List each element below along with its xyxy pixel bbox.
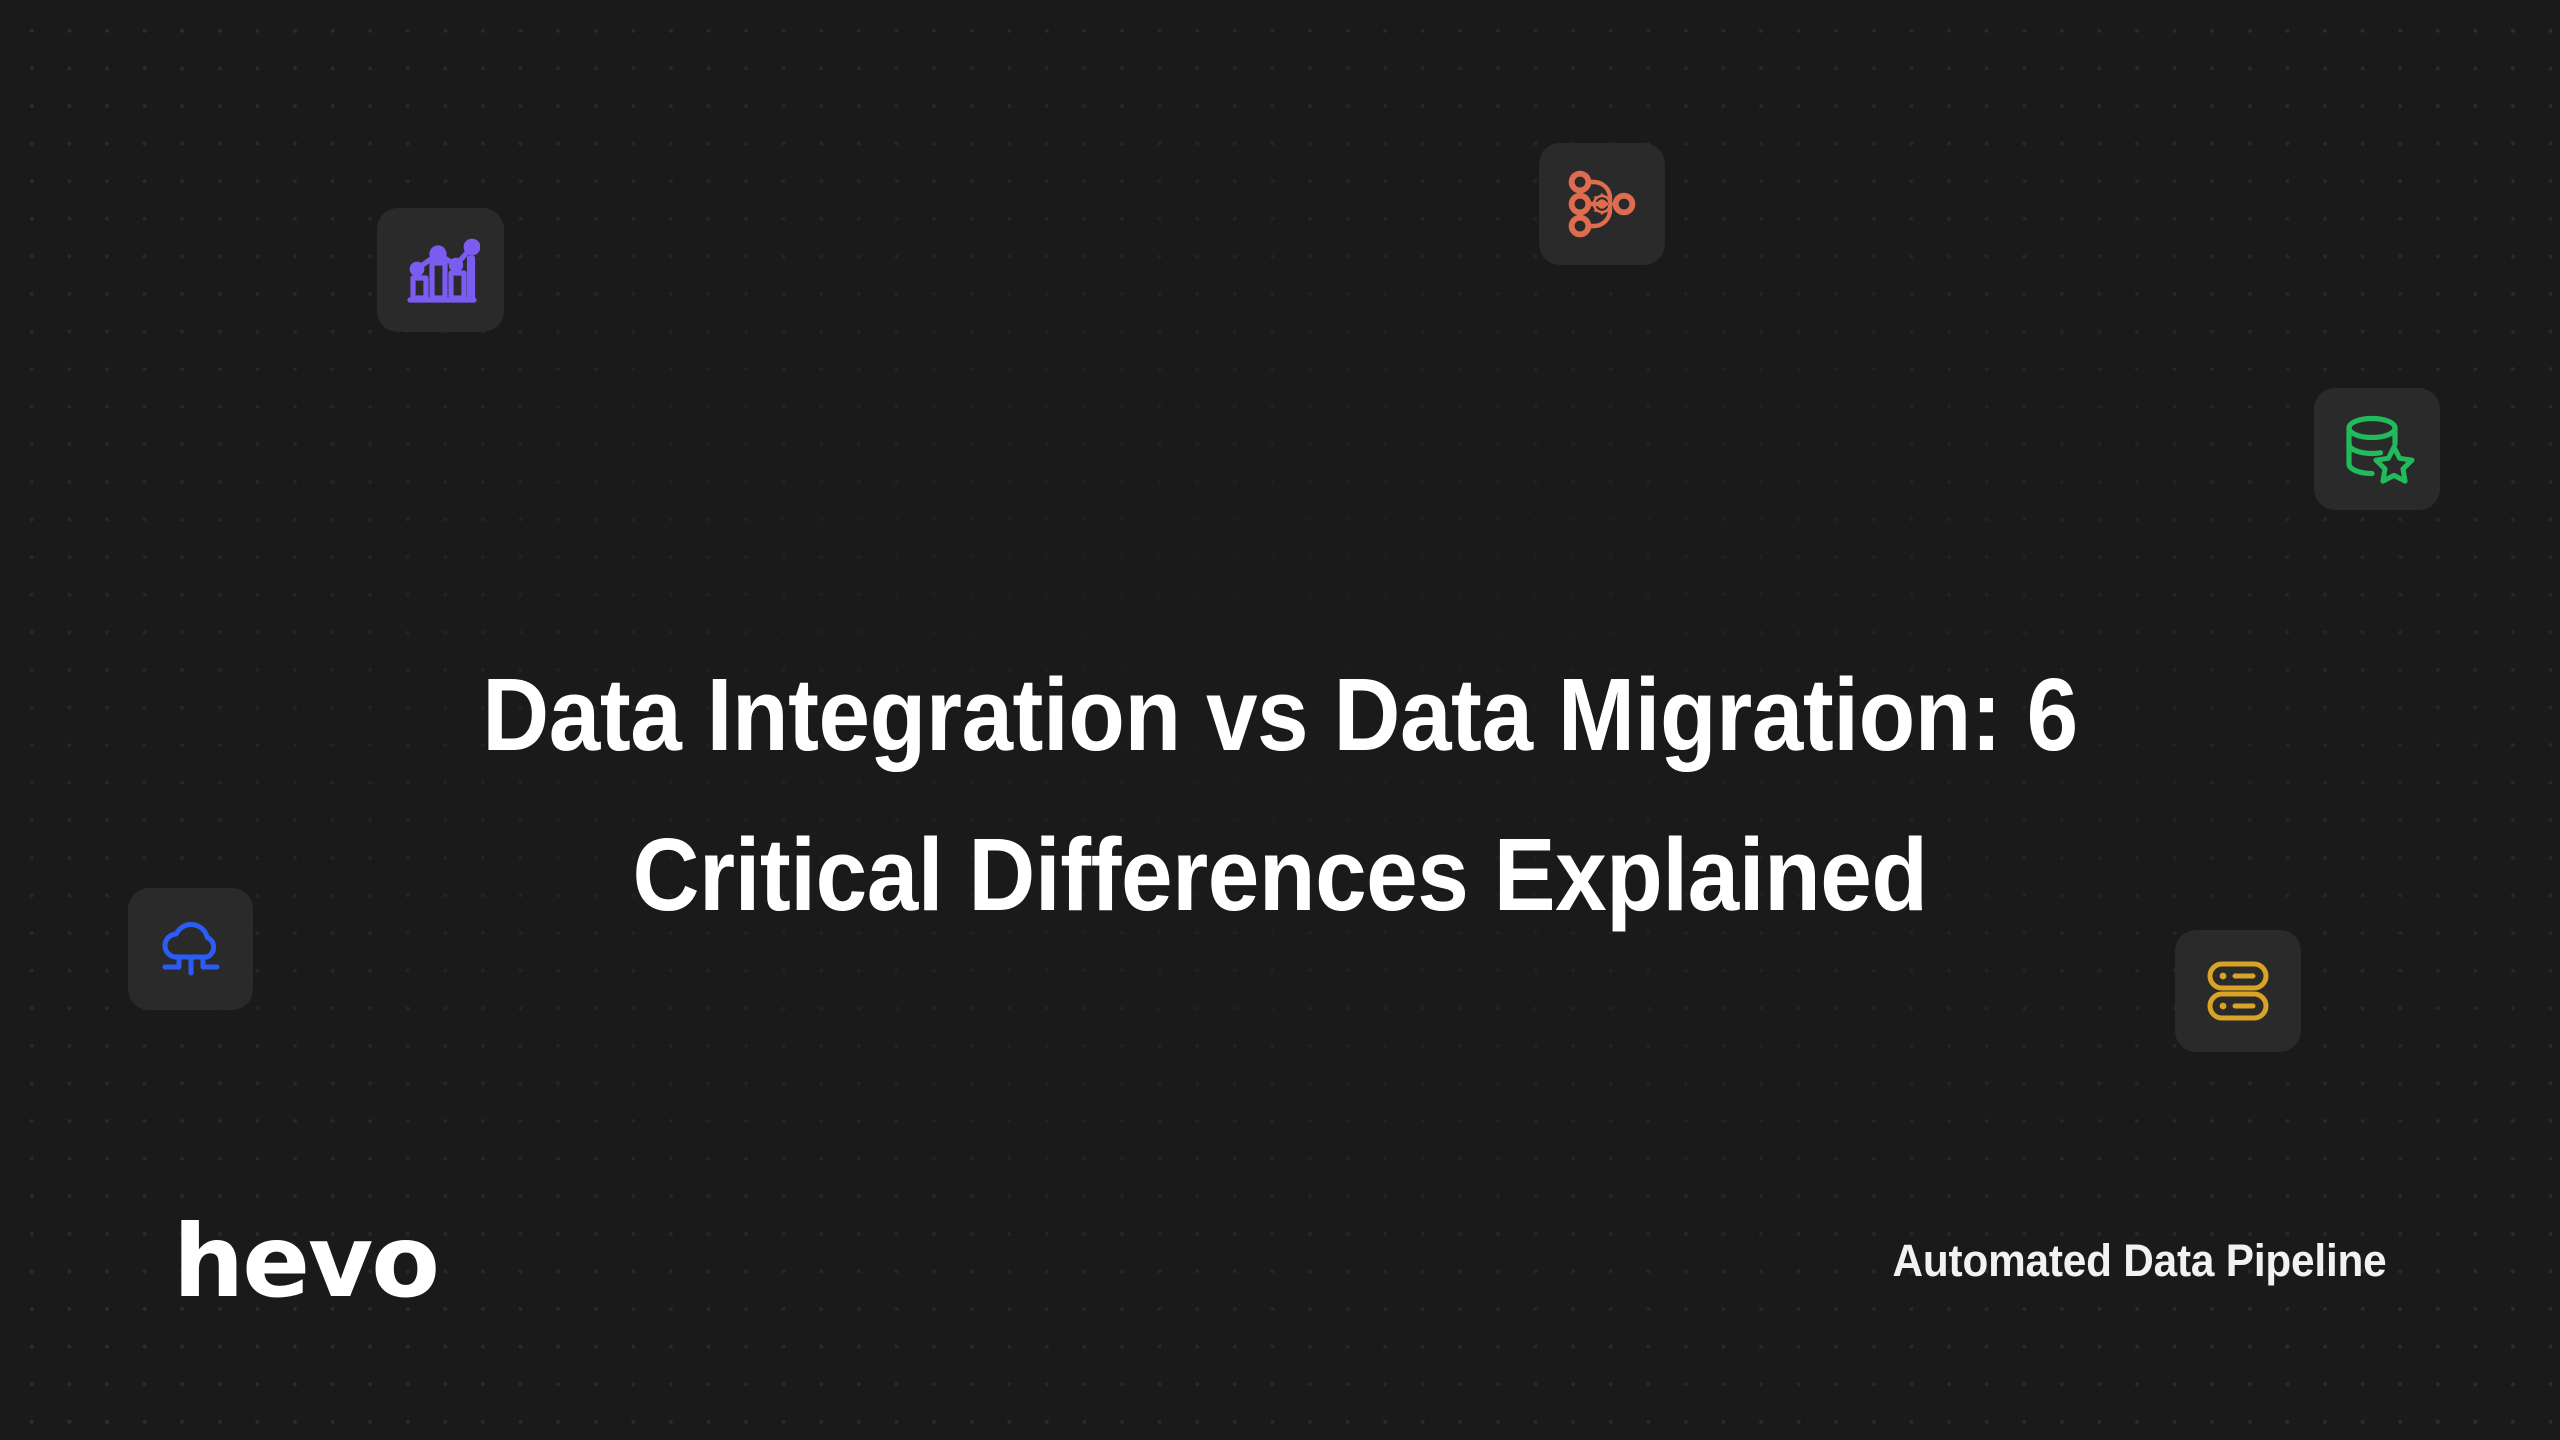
hevo-logo: hevo xyxy=(173,1212,438,1312)
icon-tile-analytics xyxy=(377,208,504,332)
page-title: Data Integration vs Data Migration: 6 Cr… xyxy=(180,635,2380,954)
server-rack-icon xyxy=(2205,958,2271,1024)
icon-tile-pipeline xyxy=(1539,143,1665,265)
data-pipeline-nodes-icon xyxy=(1566,168,1638,240)
database-star-icon xyxy=(2339,411,2415,487)
page-title-line-1: Data Integration vs Data Migration: 6 xyxy=(290,635,2270,795)
icon-tile-database xyxy=(2314,388,2440,510)
share-card-canvas: Data Integration vs Data Migration: 6 Cr… xyxy=(0,0,2560,1440)
page-title-line-2: Critical Differences Explained xyxy=(290,795,2270,955)
tagline: Automated Data Pipeline xyxy=(1892,1238,2386,1283)
analytics-chart-icon xyxy=(402,231,480,309)
